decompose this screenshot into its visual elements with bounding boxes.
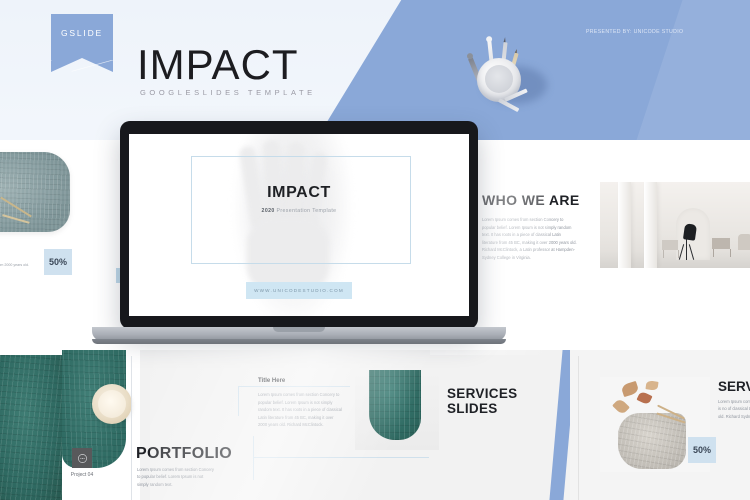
services-accent-line [238, 386, 239, 416]
hero-slide-year: 2020 [262, 208, 275, 214]
tripod-icon [686, 238, 687, 260]
gallery-interior-photo [600, 182, 750, 268]
leaf-decoration [612, 398, 630, 416]
portfolio-title: PORTFOLIO [136, 445, 232, 463]
knit-drape [369, 370, 421, 440]
services-accent-line [238, 386, 350, 387]
cup-interior [485, 65, 513, 93]
leaf-decoration [645, 380, 658, 391]
left-slide-body: simply random 2000 years old. [0, 262, 40, 269]
gallery-table [662, 240, 678, 250]
bottom-right-divider [578, 356, 579, 500]
knit-garment-photo [0, 152, 70, 232]
hero-slide-subtitle-text: Presentation Template [275, 208, 337, 214]
laptop-mockup: IMPACT 2020 Presentation Template WWW.UN… [120, 121, 478, 343]
page-title: IMPACT [137, 44, 299, 86]
ceramic-bowl-photo [92, 384, 132, 424]
who-we-are-slide[interactable]: WHO WE ARE Lorem Ipsum comes from sectio… [466, 152, 750, 328]
presenter-credit: PRESENTED BY: UNICODE STUDIO [586, 29, 683, 35]
discount-badge-left: 50% [44, 249, 72, 275]
website-url-button[interactable]: WWW.UNICODESTUDIO.COM [246, 282, 352, 299]
gallery-table [712, 238, 730, 249]
project-thumbnail[interactable] [72, 448, 92, 468]
services-card-body: Lorem Ipsum comes from section Concery t… [258, 391, 342, 429]
discount-badge-right: 50% [688, 437, 716, 463]
who-we-are-title: WHO WE ARE [482, 192, 580, 208]
gallery-column [644, 182, 657, 268]
hero-slide-subtitle: 2020 Presentation Template [129, 208, 469, 214]
laptop-screen[interactable]: IMPACT 2020 Presentation Template WWW.UN… [129, 134, 469, 316]
gallery-chair [738, 234, 750, 250]
services-card-title: Title Here [258, 378, 285, 384]
services-knit-photo [355, 370, 439, 450]
laptop-foot [92, 339, 506, 344]
services-right-title: SERV [718, 379, 750, 394]
leaf-decoration [621, 381, 640, 397]
services-right-body: Lorem Ipsum com Lorem Ipsum is no of cla… [718, 398, 750, 420]
page-subtitle: GOOGLESLIDES TEMPLATE [140, 88, 316, 97]
pencil-cup-icon [467, 40, 539, 106]
gslide-badge-label: GSLIDE [51, 28, 113, 38]
services-accent-line [253, 457, 429, 458]
presentation-template-preview: GSLIDE IMPACT GOOGLESLIDES TEMPLATE PRES… [0, 0, 750, 500]
laptop-notch [273, 327, 325, 332]
hero-slide-title: IMPACT [129, 184, 469, 202]
portfolio-divider [131, 356, 132, 500]
portfolio-body: Lorem Ipsum comes from section Concery t… [137, 466, 215, 488]
photographer-figure [683, 223, 697, 241]
leaf-decoration [636, 391, 652, 406]
services-title: SERVICES SLIDES [447, 386, 517, 416]
teal-knit-photo [0, 355, 62, 500]
hero-slide: IMPACT 2020 Presentation Template WWW.UN… [129, 134, 469, 316]
chat-bubble-icon [77, 453, 88, 464]
services-accent-line [253, 436, 254, 480]
project-label: Project 04 [61, 472, 103, 478]
gallery-column [618, 182, 631, 268]
grey-knit-garment [618, 413, 686, 469]
who-we-are-body: Lorem Ipsum comes from section Concery t… [482, 216, 578, 262]
